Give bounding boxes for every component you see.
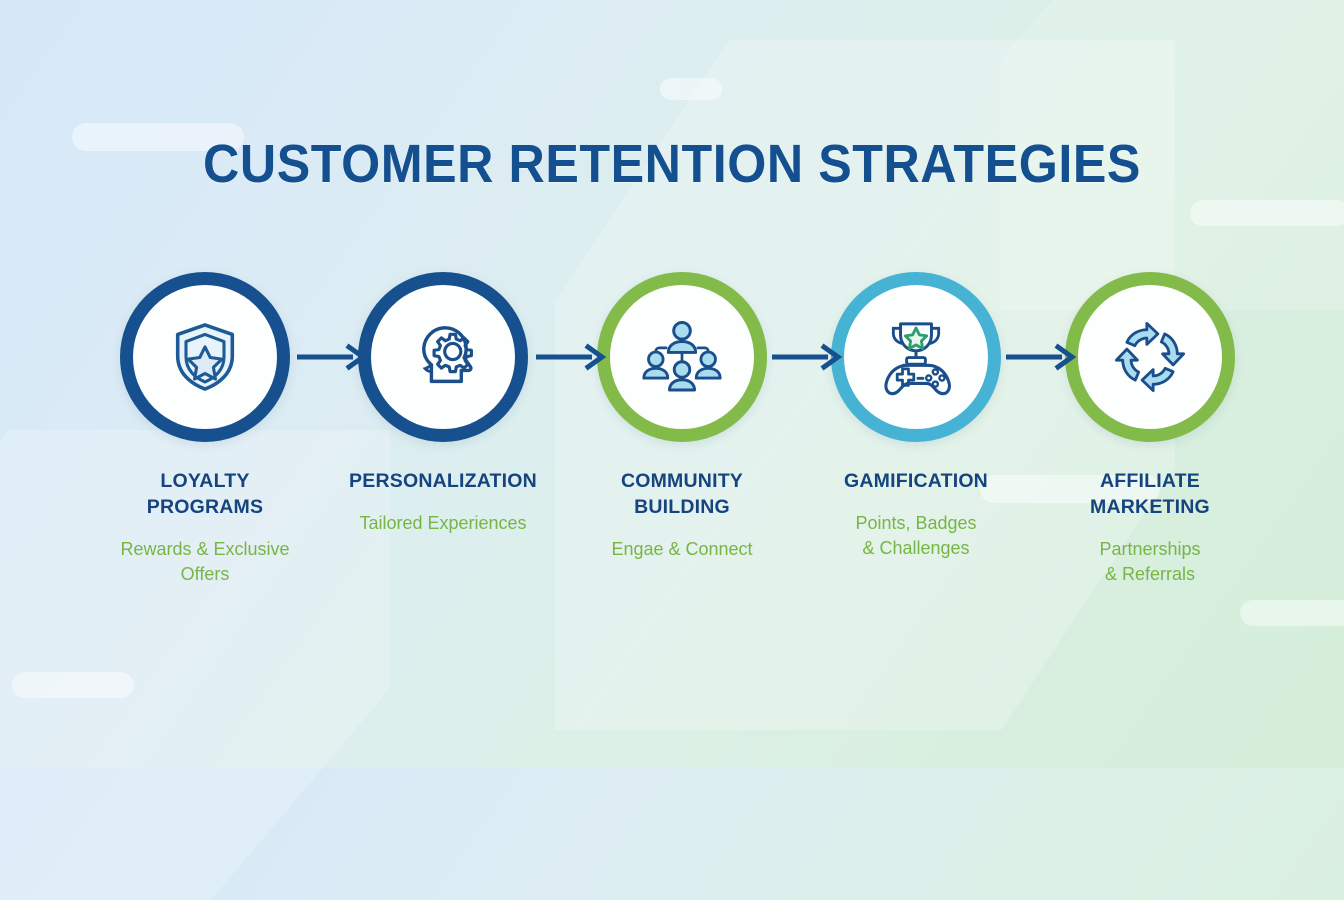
- head-gear-icon: [371, 285, 515, 429]
- step-title: AFFILIATE MARKETING: [1030, 468, 1270, 520]
- shield-star-icon: [133, 285, 277, 429]
- step-circle-loyalty-programs[interactable]: [120, 272, 290, 442]
- step-description: Tailored Experiences: [323, 511, 563, 536]
- next-step-arrow: [772, 340, 844, 374]
- step-circle-personalization[interactable]: [358, 272, 528, 442]
- step-title: COMMUNITY BUILDING: [562, 468, 802, 520]
- next-step-arrow: [536, 340, 608, 374]
- next-step-arrow: [1006, 340, 1078, 374]
- step-circle-affiliate-marketing[interactable]: [1065, 272, 1235, 442]
- step-circle-gamification[interactable]: [831, 272, 1001, 442]
- people-network-icon: [610, 285, 754, 429]
- step-description: Partnerships & Referrals: [1030, 537, 1270, 587]
- next-step-arrow: [297, 340, 369, 374]
- step-description: Rewards & Exclusive Offers: [85, 537, 325, 587]
- step-description: Points, Badges & Challenges: [796, 511, 1036, 561]
- step-title: PERSONALIZATION: [323, 468, 563, 494]
- step-description: Engae & Connect: [562, 537, 802, 562]
- trophy-gamepad-icon: [844, 285, 988, 429]
- cycle-arrows-icon: [1078, 285, 1222, 429]
- step-title: LOYALTY PROGRAMS: [85, 468, 325, 520]
- strategy-flow-diagram: LOYALTY PROGRAMS Rewards & Exclusive Off…: [0, 0, 1344, 768]
- step-title: GAMIFICATION: [796, 468, 1036, 494]
- page-title: CUSTOMER RETENTION STRATEGIES: [47, 133, 1297, 195]
- step-circle-community-building[interactable]: [597, 272, 767, 442]
